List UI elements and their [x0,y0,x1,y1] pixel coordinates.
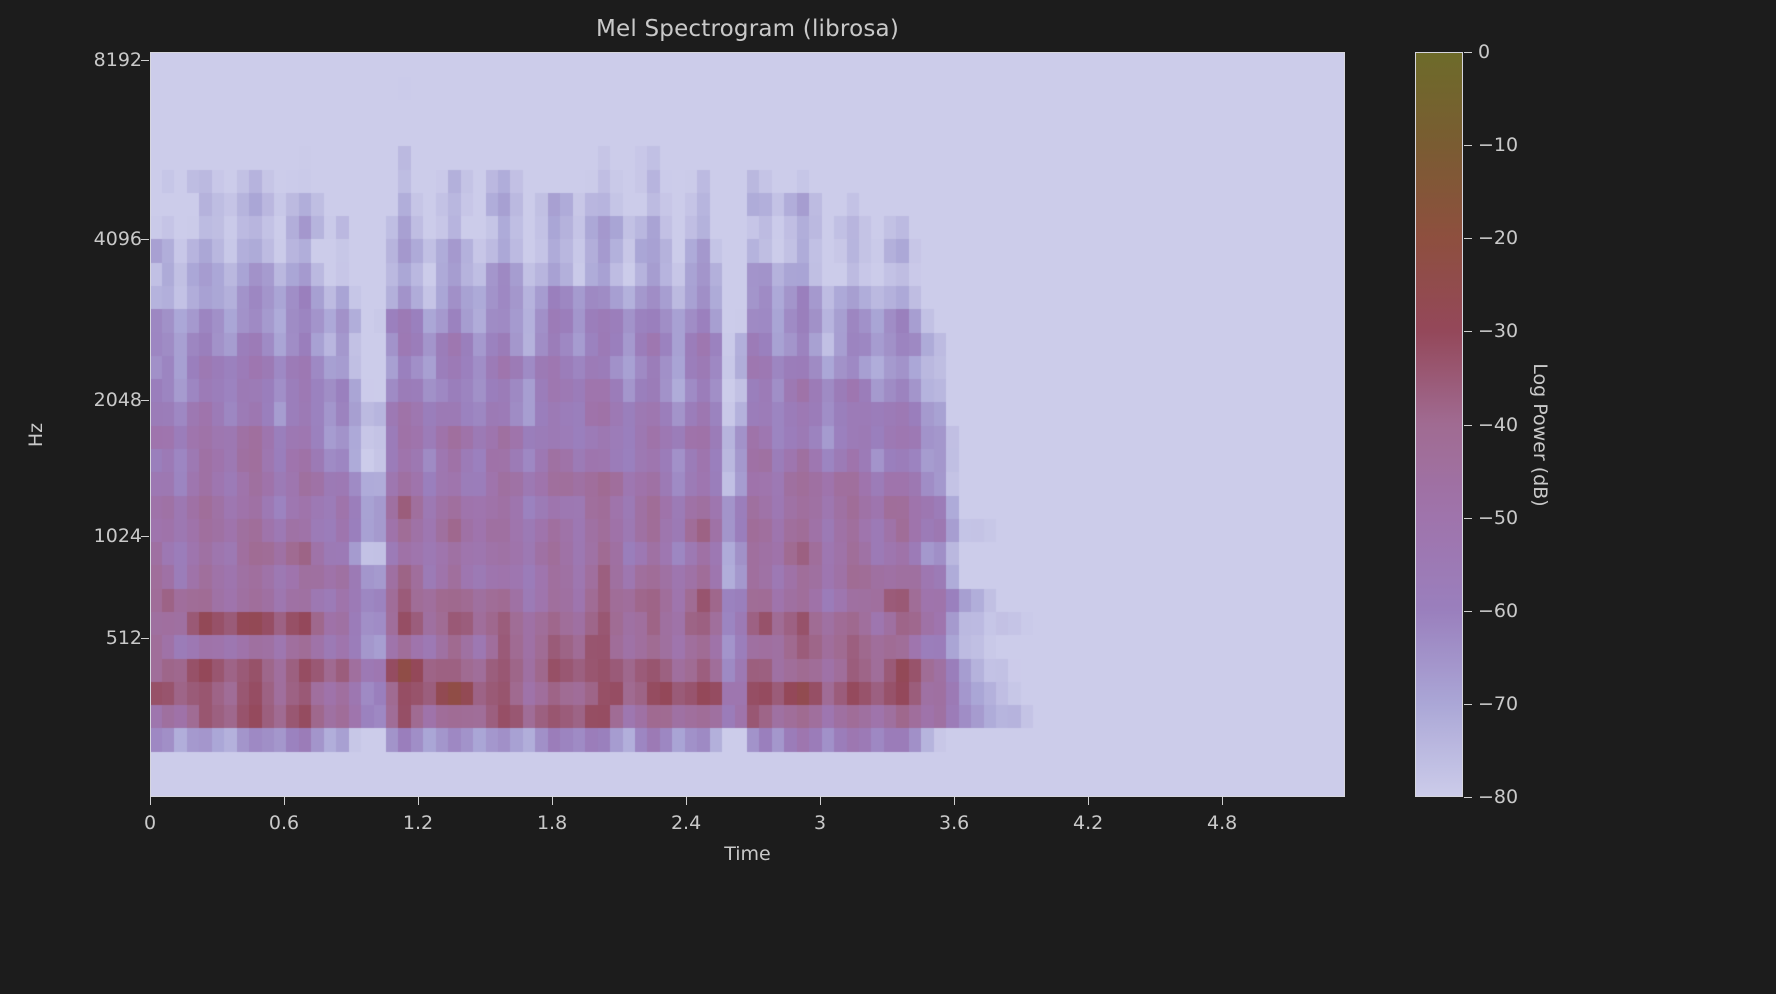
x-tick-mark [418,797,419,805]
y-axis-label: Hz [25,423,47,447]
spectrogram-image [150,52,1345,797]
x-tick-mark [686,797,687,805]
x-tick-mark [820,797,821,805]
y-tick-mark [141,400,149,401]
y-tick-mark [141,60,149,61]
x-tick-mark [1088,797,1089,805]
colorbar-tick-label: −40 [1478,414,1518,436]
x-tick-mark [552,797,553,805]
colorbar[interactable] [1415,52,1463,797]
colorbar-tick-mark [1464,238,1472,239]
y-tick-mark [141,638,149,639]
colorbar-tick-mark [1464,331,1472,332]
x-tick-label: 3.6 [939,812,969,834]
spectrogram-plot-area[interactable] [150,52,1345,797]
x-tick-label: 3 [814,812,826,834]
colorbar-tick-label: −30 [1478,320,1518,342]
colorbar-tick-mark [1464,52,1472,53]
colorbar-tick-label: −20 [1478,227,1518,249]
x-tick-label: 4.8 [1207,812,1237,834]
figure-canvas: Mel Spectrogram (librosa) 51210242048409… [0,0,1776,994]
y-tick-label: 8192 [94,49,142,71]
colorbar-tick-mark [1464,145,1472,146]
colorbar-tick-label: −10 [1478,134,1518,156]
x-tick-label: 1.2 [403,812,433,834]
colorbar-tick-mark [1464,797,1472,798]
colorbar-label: Log Power (dB) [1529,363,1551,506]
colorbar-tick-mark [1464,611,1472,612]
y-tick-label: 1024 [94,525,142,547]
x-tick-mark [954,797,955,805]
colorbar-tick-label: −70 [1478,693,1518,715]
colorbar-tick-label: −80 [1478,786,1518,808]
colorbar-tick-mark [1464,704,1472,705]
y-tick-mark [141,536,149,537]
x-tick-label: 0 [144,812,156,834]
x-tick-label: 0.6 [269,812,299,834]
x-tick-label: 1.8 [537,812,567,834]
colorbar-tick-label: −50 [1478,507,1518,529]
y-tick-label: 4096 [94,228,142,250]
x-axis-label: Time [150,843,1345,865]
colorbar-tick-label: −60 [1478,600,1518,622]
colorbar-tick-label: 0 [1478,41,1490,63]
colorbar-tick-mark [1464,425,1472,426]
x-tick-mark [150,797,151,805]
x-tick-label: 4.2 [1073,812,1103,834]
y-tick-mark [141,239,149,240]
colorbar-gradient [1416,53,1462,796]
x-tick-mark [284,797,285,805]
colorbar-tick-mark [1464,518,1472,519]
chart-title: Mel Spectrogram (librosa) [150,16,1345,42]
x-tick-mark [1222,797,1223,805]
y-tick-label: 2048 [94,389,142,411]
y-tick-label: 512 [106,627,142,649]
x-tick-label: 2.4 [671,812,701,834]
